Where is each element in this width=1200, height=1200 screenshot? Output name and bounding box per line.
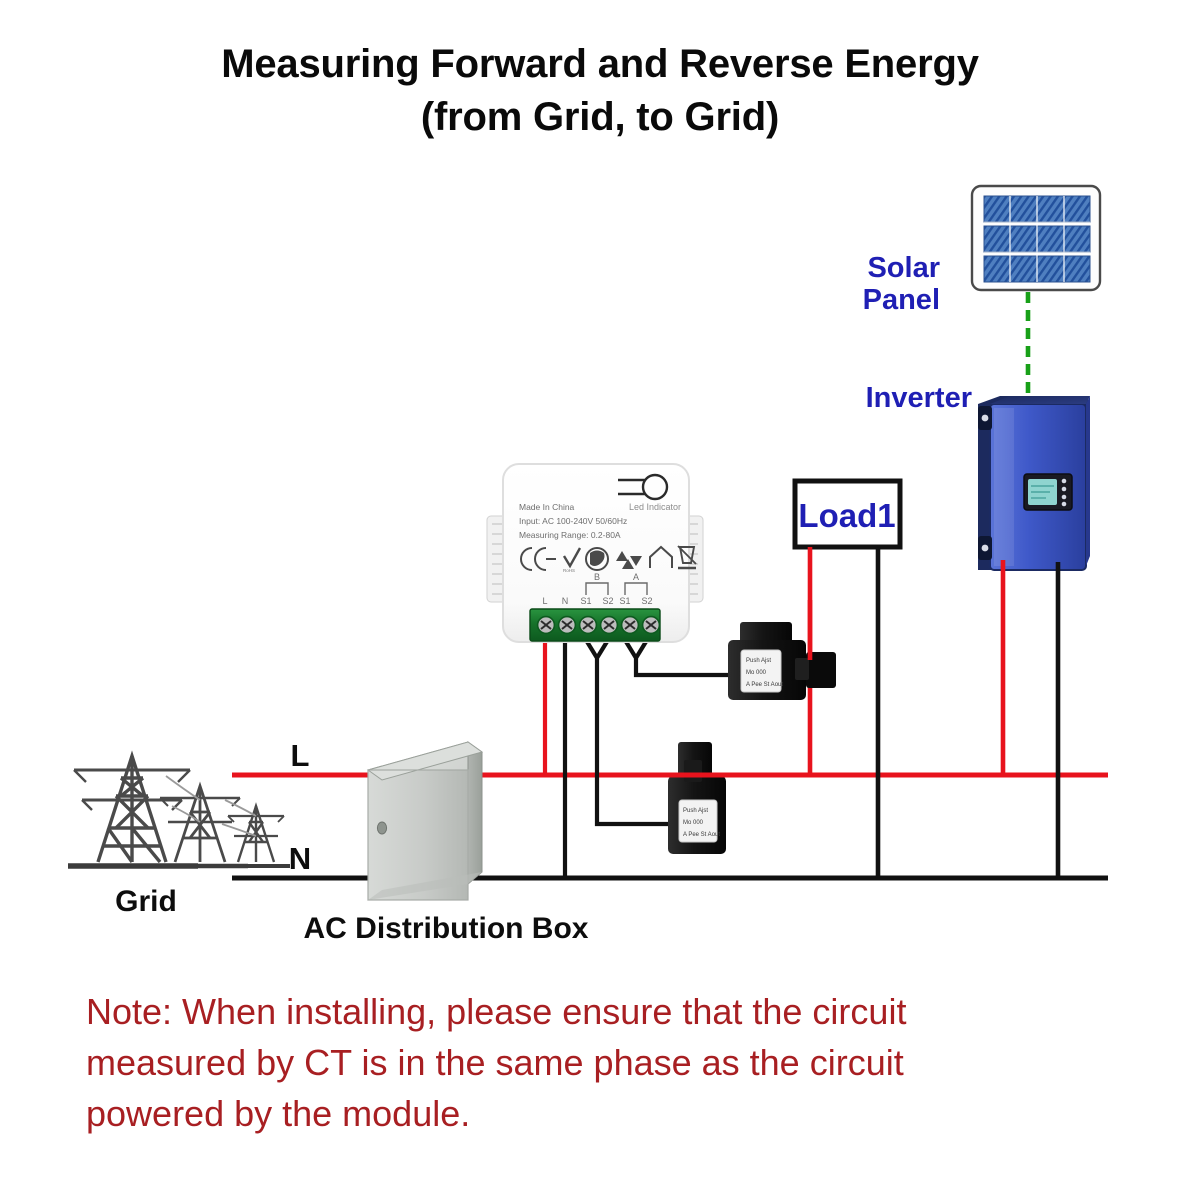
inverter bbox=[978, 396, 1090, 570]
svg-text:RoHS: RoHS bbox=[563, 568, 575, 573]
label-neutral: N bbox=[289, 841, 311, 876]
ct-lower-label-2: Mo 000 bbox=[683, 820, 704, 826]
ct-upper-label-1: Push Ajst bbox=[746, 658, 771, 664]
note-line-1: Note: When installing, please ensure tha… bbox=[86, 986, 1121, 1037]
ct-clamp-lower: Push Ajst Mo 000 A Pee St Aout bbox=[668, 742, 726, 854]
ct-upper-label-2: Mo 000 bbox=[746, 670, 767, 676]
note-line-2: measured by CT is in the same phase as t… bbox=[86, 1037, 1121, 1088]
installation-note: Note: When installing, please ensure tha… bbox=[86, 986, 1121, 1139]
terminal-group-a-label: A bbox=[633, 572, 639, 582]
terminal-label-3: S2 bbox=[602, 596, 613, 606]
ct-b-wire bbox=[586, 640, 669, 824]
energy-meter-module: Led Indicator Made In China Input: AC 10… bbox=[487, 464, 703, 642]
ct-lower-label-1: Push Ajst bbox=[683, 808, 708, 814]
label-solar-panel-line2: Panel bbox=[863, 284, 940, 316]
label-ac-distribution-box: AC Distribution Box bbox=[304, 912, 589, 945]
ct-a-wire bbox=[625, 640, 728, 675]
module-input: Input: AC 100-240V 50/60Hz bbox=[519, 516, 627, 526]
terminal-label-2: S1 bbox=[580, 596, 591, 606]
module-made-in: Made In China bbox=[519, 502, 575, 512]
ct-upper-label-3: A Pee St Aout bbox=[746, 682, 783, 688]
note-line-3: powered by the module. bbox=[86, 1088, 1121, 1139]
terminal-block bbox=[530, 609, 660, 641]
ac-distribution-box bbox=[368, 742, 482, 900]
ct-clamp-upper: Push Ajst Mo 000 A Pee St Aout bbox=[728, 622, 836, 700]
led-indicator-label: Led Indicator bbox=[629, 502, 681, 512]
label-load1: Load1 bbox=[798, 497, 895, 534]
solar-panel bbox=[972, 186, 1100, 290]
door-latch-icon bbox=[377, 822, 386, 834]
terminal-label-1: N bbox=[562, 596, 569, 606]
label-live: L bbox=[291, 738, 310, 773]
module-range: Measuring Range: 0.2-80A bbox=[519, 530, 621, 540]
terminal-label-0: L bbox=[542, 596, 547, 606]
label-inverter: Inverter bbox=[866, 382, 972, 414]
ct-lower-label-3: A Pee St Aout bbox=[683, 832, 720, 838]
label-grid: Grid bbox=[115, 885, 177, 918]
terminal-group-b-label: B bbox=[594, 572, 600, 582]
terminal-label-4: S1 bbox=[619, 596, 630, 606]
label-solar-panel-line1: Solar bbox=[867, 252, 940, 284]
terminal-label-5: S2 bbox=[641, 596, 652, 606]
